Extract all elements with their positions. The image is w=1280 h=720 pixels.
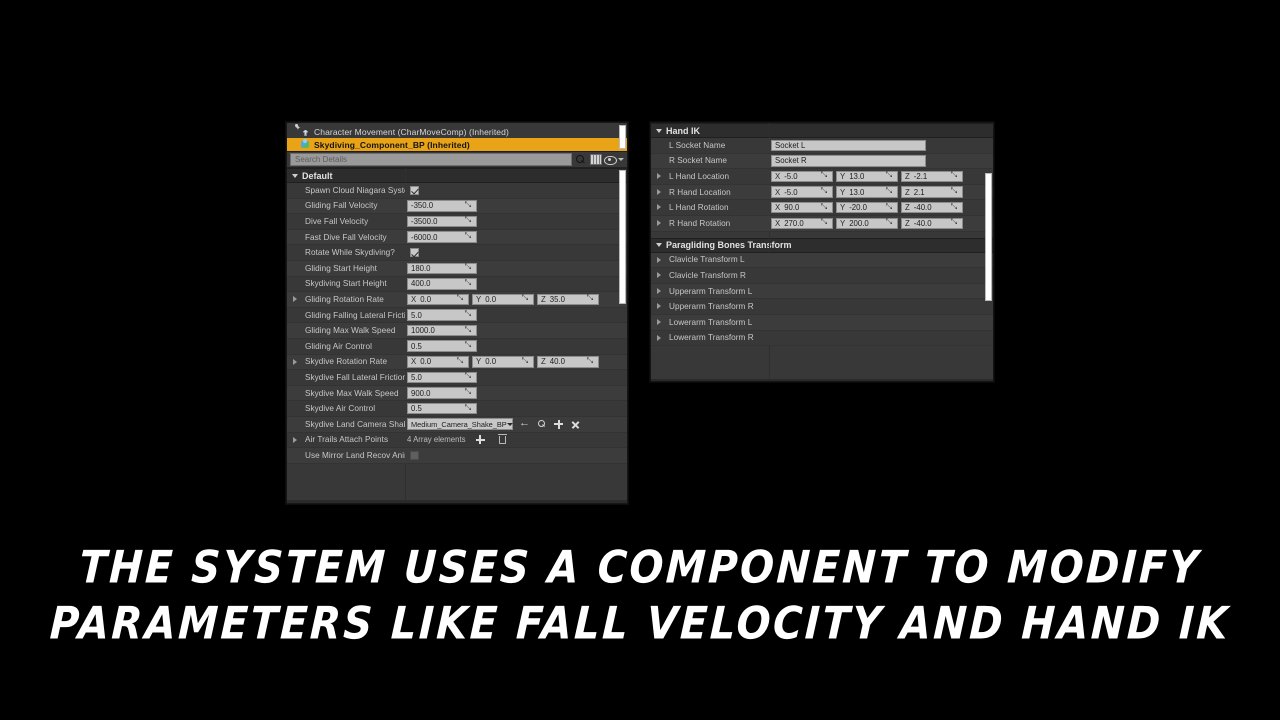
number-input-z[interactable]: Z -2.1: [901, 171, 963, 183]
number-value: 5.0: [411, 373, 422, 382]
search-input[interactable]: Search Details: [290, 153, 572, 166]
number-input-z[interactable]: Z -40.0: [901, 218, 963, 230]
property-value: 0.5: [405, 340, 627, 352]
chevron-down-icon: [618, 158, 624, 161]
component-tree-item-label: Character Movement (CharMoveComp) (Inher…: [314, 127, 509, 137]
category-label: Hand IK: [666, 126, 700, 136]
drag-spinner-icon[interactable]: [886, 204, 894, 212]
number-input-y[interactable]: Y 0.0: [472, 294, 534, 306]
axis-label-y: Y: [840, 188, 845, 197]
property-value: 180.0: [405, 263, 627, 275]
asset-row-actions: [520, 420, 580, 429]
number-input-x[interactable]: X 90.0: [771, 202, 833, 214]
property-row: Skydive Fall Lateral Friction 5.0: [287, 370, 627, 386]
property-label-text: Upperarm Transform L: [669, 287, 752, 296]
screenshot-root: Character Movement (CharMoveComp) (Inher…: [0, 0, 1280, 720]
category-header-default[interactable]: Default: [287, 168, 627, 183]
property-row: Gliding Fall Velocity -350.0: [287, 199, 627, 215]
axis-label-z: Z: [905, 188, 910, 197]
property-label: Spawn Cloud Niagara System?: [287, 186, 405, 195]
component-tree-item-character-movement[interactable]: Character Movement (CharMoveComp) (Inher…: [287, 125, 627, 138]
number-value: 0.5: [411, 404, 422, 413]
property-value: Socket R: [769, 155, 993, 167]
axis-label-y: Y: [476, 357, 481, 366]
property-label-text: Air Trails Attach Points: [305, 435, 388, 444]
checkbox[interactable]: [410, 186, 419, 195]
drag-spinner-icon[interactable]: [821, 188, 829, 196]
number-value: -5.0: [784, 188, 797, 197]
drag-spinner-icon[interactable]: [951, 172, 959, 180]
drag-spinner-icon[interactable]: [821, 204, 829, 212]
property-label: Gliding Falling Lateral Friction: [287, 311, 405, 320]
drag-spinner-icon[interactable]: [465, 217, 473, 225]
number-input[interactable]: -3500.0: [407, 216, 477, 228]
property-label: Skydiving Start Height: [287, 279, 405, 288]
back-arrow-icon[interactable]: [520, 420, 529, 429]
axis-label-x: X: [775, 188, 780, 197]
number-input-x[interactable]: X 270.0: [771, 218, 833, 230]
number-value: -5.0: [784, 172, 797, 181]
axis-label-y: Y: [840, 172, 845, 181]
chevron-right-icon[interactable]: [293, 359, 297, 365]
number-input[interactable]: -6000.0: [407, 231, 477, 243]
number-value: 2.1: [914, 188, 925, 197]
property-value: [405, 186, 627, 195]
axis-label-z: Z: [541, 295, 546, 304]
drag-spinner-icon[interactable]: [951, 204, 959, 212]
axis-label-x: X: [775, 203, 780, 212]
property-value: 400.0: [405, 278, 627, 290]
category-label: Paragliding Bones Transform: [666, 240, 792, 250]
property-label: Rotate While Skydiving?: [287, 248, 405, 257]
number-input-y[interactable]: Y -20.0: [836, 202, 898, 214]
number-input[interactable]: -350.0: [407, 200, 477, 212]
chevron-right-icon[interactable]: [657, 204, 661, 210]
number-value: 40.0: [550, 357, 565, 366]
property-value: 0.5: [405, 403, 627, 415]
drag-spinner-icon[interactable]: [522, 295, 530, 303]
array-element-count: 4 Array elements: [407, 435, 466, 444]
text-input[interactable]: Socket R: [771, 155, 926, 167]
property-row: Gliding Falling Lateral Friction 5.0: [287, 308, 627, 324]
number-input[interactable]: 5.0: [407, 309, 477, 321]
chevron-right-icon[interactable]: [657, 288, 661, 294]
property-row: Dive Fall Velocity -3500.0: [287, 214, 627, 230]
drag-spinner-icon[interactable]: [821, 219, 829, 227]
number-value: 35.0: [550, 295, 565, 304]
property-row: Skydive Air Control 0.5: [287, 401, 627, 417]
component-tree-item-skydiving-component[interactable]: Skydiving_Component_BP (Inherited): [287, 138, 627, 151]
character-icon: [300, 126, 311, 137]
number-input-x[interactable]: X -5.0: [771, 186, 833, 198]
property-row: Rotate While Skydiving?: [287, 245, 627, 261]
property-row: Use Mirror Land Recov Anim?: [287, 448, 627, 464]
property-row: L Hand Rotation X 90.0 Y -20.0 Z: [651, 200, 993, 216]
property-label[interactable]: Upperarm Transform R: [651, 302, 769, 311]
chevron-down-icon: [507, 423, 513, 426]
property-row: Skydiving Start Height 400.0: [287, 277, 627, 293]
property-label-text: R Hand Rotation: [669, 219, 730, 228]
right-property-list: Hand IK L Socket Name Socket L R Socket …: [651, 123, 993, 379]
number-input[interactable]: 1000.0: [407, 325, 477, 337]
property-label: Gliding Air Control: [287, 342, 405, 351]
drag-spinner-icon[interactable]: [465, 264, 473, 272]
axis-label-y: Y: [840, 203, 845, 212]
axis-label-x: X: [775, 219, 780, 228]
property-value: [405, 248, 627, 257]
chevron-right-icon[interactable]: [293, 296, 297, 302]
property-value: [405, 451, 627, 460]
property-row: Clavicle Transform L: [651, 253, 993, 269]
drag-spinner-icon[interactable]: [951, 219, 959, 227]
drag-spinner-icon[interactable]: [457, 358, 465, 366]
property-label[interactable]: L Hand Location: [651, 172, 769, 181]
property-row: R Hand Location X -5.0 Y 13.0 Z: [651, 185, 993, 201]
right-details-scrollbar[interactable]: [985, 173, 992, 301]
property-label-text: Lowerarm Transform L: [669, 318, 752, 327]
property-row: Spawn Cloud Niagara System?: [287, 183, 627, 199]
property-label: L Socket Name: [651, 141, 769, 150]
number-input-y[interactable]: Y 13.0: [836, 186, 898, 198]
property-label-text: Clavicle Transform R: [669, 271, 746, 280]
drag-spinner-icon[interactable]: [465, 311, 473, 319]
drag-spinner-icon[interactable]: [457, 295, 465, 303]
property-label: Skydive Air Control: [287, 404, 405, 413]
property-label[interactable]: R Hand Rotation: [651, 219, 769, 228]
property-value: Medium_Camera_Shake_BP: [405, 418, 627, 430]
axis-label-z: Z: [905, 219, 910, 228]
number-value: 0.0: [485, 357, 496, 366]
property-value: 4 Array elements: [405, 435, 627, 444]
drag-spinner-icon[interactable]: [465, 233, 473, 241]
details-property-list: Default Spawn Cloud Niagara System? Glid…: [287, 168, 627, 500]
property-row: Lowerarm Transform R: [651, 331, 993, 347]
property-label[interactable]: Clavicle Transform R: [651, 271, 769, 280]
number-value: -40.0: [914, 219, 932, 228]
axis-label-y: Y: [476, 295, 481, 304]
drag-spinner-icon[interactable]: [522, 358, 530, 366]
number-input-x[interactable]: X -5.0: [771, 171, 833, 183]
property-label[interactable]: Skydive Rotation Rate: [287, 357, 405, 366]
property-label-text: R Hand Location: [669, 188, 731, 197]
property-value: X -5.0 Y 13.0 Z 2.1: [769, 186, 993, 198]
details-window-left: Character Movement (CharMoveComp) (Inher…: [286, 122, 628, 504]
property-row: Clavicle Transform R: [651, 268, 993, 284]
property-label[interactable]: L Hand Rotation: [651, 203, 769, 212]
property-label[interactable]: Lowerarm Transform R: [651, 333, 769, 342]
blueprint-component-icon: [300, 139, 311, 150]
property-label-text: L Hand Location: [669, 172, 729, 181]
number-value: -40.0: [914, 203, 932, 212]
chevron-down-icon: [656, 129, 662, 133]
number-input[interactable]: 180.0: [407, 263, 477, 275]
property-row: L Socket Name Socket L: [651, 138, 993, 154]
details-search-bar: Search Details: [287, 152, 627, 168]
axis-label-x: X: [411, 357, 416, 366]
number-value: 900.0: [411, 389, 431, 398]
property-value: -6000.0: [405, 231, 627, 243]
property-label-text: Upperarm Transform R: [669, 302, 754, 311]
property-label: Gliding Max Walk Speed: [287, 326, 405, 335]
caption-line-2: parameters like fall velocity and hand I…: [0, 593, 1280, 656]
axis-label-x: X: [411, 295, 416, 304]
property-row: Skydive Rotation Rate X 0.0 Y 0.0 Z: [287, 355, 627, 371]
number-input-y[interactable]: Y 0.0: [472, 356, 534, 368]
component-tree-item-label: Skydiving_Component_BP (Inherited): [314, 140, 470, 150]
property-row: R Socket Name Socket R: [651, 154, 993, 170]
number-input[interactable]: 5.0: [407, 372, 477, 384]
property-label: Skydive Land Camera Shake: [287, 420, 405, 429]
chevron-right-icon[interactable]: [657, 272, 661, 278]
property-row: Upperarm Transform R: [651, 299, 993, 315]
property-value: X 0.0 Y 0.0 Z 35.0: [405, 294, 627, 306]
number-value: -6000.0: [411, 233, 437, 242]
number-value: -3500.0: [411, 217, 437, 226]
property-label: Dive Fall Velocity: [287, 217, 405, 226]
component-tree: Character Movement (CharMoveComp) (Inher…: [287, 123, 627, 152]
checkbox[interactable]: [410, 248, 419, 257]
details-scrollbar[interactable]: [619, 170, 626, 304]
axis-label-z: Z: [541, 357, 546, 366]
category-header-hand-ik[interactable]: Hand IK: [651, 123, 993, 138]
plus-icon[interactable]: [554, 420, 563, 429]
property-row: Gliding Rotation Rate X 0.0 Y 0.0 Z: [287, 292, 627, 308]
chevron-right-icon[interactable]: [657, 257, 661, 263]
text-input[interactable]: Socket L: [771, 140, 926, 152]
number-value: 0.0: [420, 295, 431, 304]
category-header-paragliding-bones-transform[interactable]: Paragliding Bones Transform: [651, 238, 993, 253]
number-input[interactable]: 400.0: [407, 278, 477, 290]
property-row: Lowerarm Transform L: [651, 315, 993, 331]
property-label[interactable]: Gliding Rotation Rate: [287, 295, 405, 304]
number-value: 180.0: [411, 264, 431, 273]
number-input[interactable]: 900.0: [407, 387, 477, 399]
browse-icon[interactable]: [537, 420, 546, 429]
property-value: X 270.0 Y 200.0 Z -40.0: [769, 218, 993, 230]
property-row: Gliding Max Walk Speed 1000.0: [287, 323, 627, 339]
property-value: -350.0: [405, 200, 627, 212]
number-input[interactable]: 0.5: [407, 403, 477, 415]
view-options-button[interactable]: [603, 153, 625, 167]
chevron-right-icon[interactable]: [657, 319, 661, 325]
property-value: X 0.0 Y 0.0 Z 40.0: [405, 356, 627, 368]
property-value: 900.0: [405, 387, 627, 399]
property-row: Gliding Air Control 0.5: [287, 339, 627, 355]
number-input-y[interactable]: Y 13.0: [836, 171, 898, 183]
asset-name: Medium_Camera_Shake_BP: [411, 420, 507, 429]
number-value: 400.0: [411, 279, 431, 288]
trash-icon[interactable]: [499, 436, 506, 444]
number-input-z[interactable]: Z -40.0: [901, 202, 963, 214]
property-label: Gliding Start Height: [287, 264, 405, 273]
drag-spinner-icon[interactable]: [587, 358, 595, 366]
axis-label-x: X: [775, 172, 780, 181]
property-row: Fast Dive Fall Velocity -6000.0: [287, 230, 627, 246]
visibility-eye-icon: [604, 156, 616, 164]
number-value: 270.0: [784, 219, 804, 228]
component-tree-scrollbar[interactable]: [619, 125, 626, 149]
chevron-right-icon[interactable]: [657, 303, 661, 309]
property-label-text: L Hand Rotation: [669, 203, 729, 212]
number-input-z[interactable]: Z 35.0: [537, 294, 599, 306]
property-label: Skydive Max Walk Speed: [287, 389, 405, 398]
number-value: -20.0: [849, 203, 867, 212]
drag-spinner-icon[interactable]: [465, 280, 473, 288]
property-row: Air Trails Attach Points 4 Array element…: [287, 433, 627, 449]
number-value: 13.0: [849, 188, 864, 197]
category-label: Default: [302, 171, 333, 181]
property-row: R Hand Rotation X 270.0 Y 200.0 Z: [651, 216, 993, 232]
property-label-text: Gliding Rotation Rate: [305, 295, 384, 304]
number-value: 5.0: [411, 311, 422, 320]
number-value: 0.0: [485, 295, 496, 304]
caption-block: The system uses a component to modify pa…: [0, 540, 1280, 652]
property-row: Skydive Max Walk Speed 900.0: [287, 386, 627, 402]
property-value: X -5.0 Y 13.0 Z -2.1: [769, 171, 993, 183]
number-input[interactable]: 0.5: [407, 340, 477, 352]
details-window-right: Hand IK L Socket Name Socket L R Socket …: [650, 122, 994, 382]
drag-spinner-icon[interactable]: [465, 327, 473, 335]
drag-spinner-icon[interactable]: [465, 373, 473, 381]
column-settings-icon: [590, 154, 602, 165]
number-value: -2.1: [914, 172, 927, 181]
caption-line-1: The system uses a component to modify: [0, 537, 1280, 600]
chevron-down-icon: [292, 174, 298, 178]
property-value: X 90.0 Y -20.0 Z -40.0: [769, 202, 993, 214]
checkbox[interactable]: [410, 451, 419, 460]
chevron-right-icon[interactable]: [293, 437, 297, 443]
property-value: Socket L: [769, 140, 993, 152]
drag-spinner-icon[interactable]: [821, 172, 829, 180]
drag-spinner-icon[interactable]: [465, 405, 473, 413]
asset-picker-dropdown[interactable]: Medium_Camera_Shake_BP: [407, 418, 513, 430]
number-input-z[interactable]: Z 2.1: [901, 186, 963, 198]
property-value: 5.0: [405, 309, 627, 321]
property-label[interactable]: Clavicle Transform L: [651, 255, 769, 264]
chevron-down-icon: [656, 243, 662, 247]
number-value: 13.0: [849, 172, 864, 181]
number-input-y[interactable]: Y 200.0: [836, 218, 898, 230]
drag-spinner-icon[interactable]: [886, 219, 894, 227]
drag-spinner-icon[interactable]: [587, 295, 595, 303]
drag-spinner-icon[interactable]: [465, 342, 473, 350]
property-label-text: Clavicle Transform L: [669, 255, 745, 264]
number-value: -350.0: [411, 201, 433, 210]
property-label[interactable]: Lowerarm Transform L: [651, 318, 769, 327]
clear-x-icon[interactable]: [571, 420, 580, 429]
property-row: Upperarm Transform L: [651, 284, 993, 300]
axis-label-z: Z: [905, 172, 910, 181]
axis-label-y: Y: [840, 219, 845, 228]
property-value: 1000.0: [405, 325, 627, 337]
property-label: R Socket Name: [651, 156, 769, 165]
property-label-text: Skydive Rotation Rate: [305, 357, 387, 366]
property-label-text: Lowerarm Transform R: [669, 333, 754, 342]
number-input-x[interactable]: X 0.0: [407, 294, 469, 306]
chevron-right-icon[interactable]: [657, 173, 661, 179]
number-input-x[interactable]: X 0.0: [407, 356, 469, 368]
property-label[interactable]: Upperarm Transform L: [651, 287, 769, 296]
property-row: Skydive Land Camera Shake Medium_Camera_…: [287, 417, 627, 433]
number-input-z[interactable]: Z 40.0: [537, 356, 599, 368]
property-row: L Hand Location X -5.0 Y 13.0 Z: [651, 169, 993, 185]
chevron-right-icon[interactable]: [657, 335, 661, 341]
number-value: 90.0: [784, 203, 799, 212]
property-label: Gliding Fall Velocity: [287, 201, 405, 210]
drag-spinner-icon[interactable]: [465, 389, 473, 397]
chevron-right-icon[interactable]: [657, 189, 661, 195]
property-row: Gliding Start Height 180.0: [287, 261, 627, 277]
axis-label-z: Z: [905, 203, 910, 212]
chevron-right-icon[interactable]: [657, 220, 661, 226]
property-label[interactable]: R Hand Location: [651, 188, 769, 197]
property-label: Skydive Fall Lateral Friction: [287, 373, 405, 382]
property-label: Fast Dive Fall Velocity: [287, 233, 405, 242]
number-value: 200.0: [849, 219, 869, 228]
search-button[interactable]: [573, 153, 588, 167]
column-settings-button[interactable]: [588, 153, 603, 167]
drag-spinner-icon[interactable]: [886, 188, 894, 196]
number-value: 0.5: [411, 342, 422, 351]
number-value: 0.0: [420, 357, 431, 366]
search-icon: [576, 155, 585, 164]
property-label[interactable]: Air Trails Attach Points: [287, 435, 405, 444]
drag-spinner-icon[interactable]: [465, 202, 473, 210]
drag-spinner-icon[interactable]: [886, 172, 894, 180]
property-label: Use Mirror Land Recov Anim?: [287, 451, 405, 460]
drag-spinner-icon[interactable]: [951, 188, 959, 196]
number-value: 1000.0: [411, 326, 435, 335]
property-value: 5.0: [405, 372, 627, 384]
property-value: -3500.0: [405, 216, 627, 228]
plus-icon[interactable]: [476, 435, 485, 444]
